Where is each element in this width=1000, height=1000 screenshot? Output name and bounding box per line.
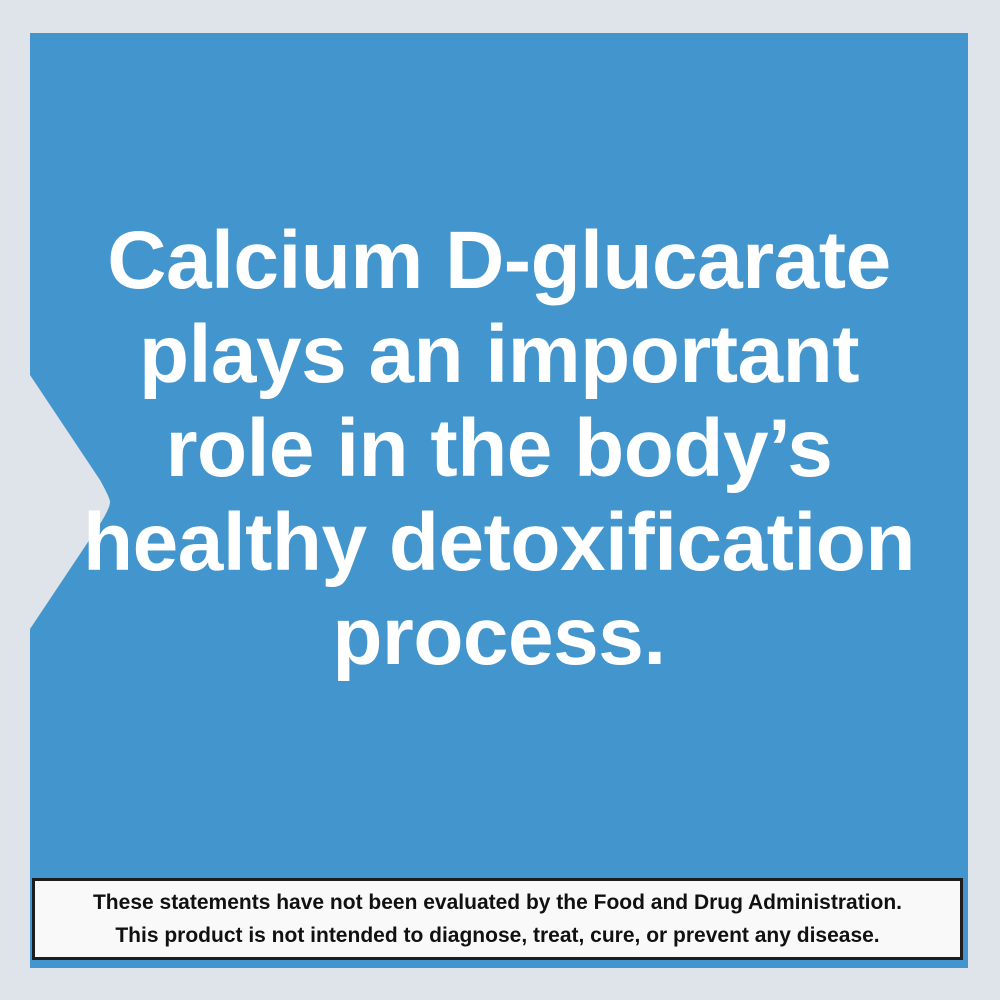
headline-line-5: process.	[30, 590, 968, 684]
headline-line-3: role in the body’s	[30, 402, 968, 496]
disclaimer-line-1: These statements have not been evaluated…	[93, 886, 902, 919]
headline-text: Calcium D-glucarate plays an important r…	[30, 214, 968, 684]
fda-disclaimer-box: These statements have not been evaluated…	[32, 878, 963, 960]
headline-line-2: plays an important	[30, 308, 968, 402]
disclaimer-line-2: This product is not intended to diagnose…	[115, 919, 879, 952]
headline-line-1: Calcium D-glucarate	[30, 214, 968, 308]
graphic-canvas: Calcium D-glucarate plays an important r…	[0, 0, 1000, 1000]
headline-line-4: healthy detoxification	[30, 496, 968, 590]
